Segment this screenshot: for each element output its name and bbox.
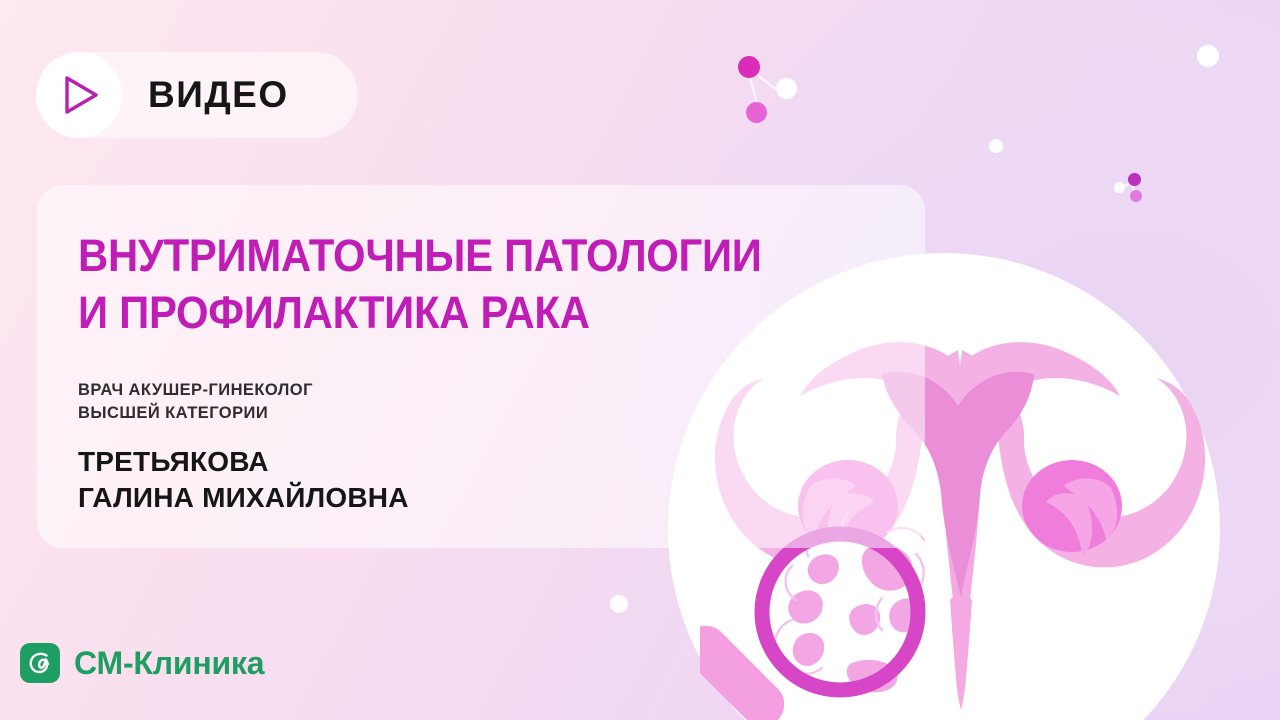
doctor-role-line-1: ВРАЧ АКУШЕР-ГИНЕКОЛОГ xyxy=(78,379,409,402)
doctor-given-name: ГАЛИНА МИХАЙЛОВНА xyxy=(78,480,409,516)
video-badge-label: ВИДЕО xyxy=(148,74,289,116)
content-card: ВНУТРИМАТОЧНЫЕ ПАТОЛОГИИ И ПРОФИЛАКТИКА … xyxy=(37,185,925,548)
doctor-role-line-2: ВЫСШЕЙ КАТЕГОРИИ xyxy=(78,402,409,425)
doctor-surname: ТРЕТЬЯКОВА xyxy=(78,444,409,480)
title-line-1: ВНУТРИМАТОЧНЫЕ ПАТОЛОГИИ xyxy=(78,227,762,284)
brand-logo[interactable]: СМ-Клиника xyxy=(20,643,264,683)
play-triangle-outline-icon xyxy=(54,70,104,120)
video-badge[interactable]: ВИДЕО xyxy=(36,52,358,138)
dot-top-right-icon xyxy=(1197,45,1219,67)
molecule-top-icon xyxy=(730,50,820,140)
title-line-2: И ПРОФИЛАКТИКА РАКА xyxy=(78,284,762,341)
brand-name: СМ-Клиника xyxy=(74,645,264,682)
page-title: ВНУТРИМАТОЧНЫЕ ПАТОЛОГИИ И ПРОФИЛАКТИКА … xyxy=(78,227,813,341)
molecule-right-icon xyxy=(1112,168,1172,228)
dot-upper-mid-icon xyxy=(989,139,1003,153)
pulse-wave-icon xyxy=(20,643,60,683)
video-title-slide: ВИДЕО ВНУТРИМАТОЧНЫЕ ПАТОЛОГИИ И ПРОФИЛА… xyxy=(0,0,1280,720)
doctor-info: ВРАЧ АКУШЕР-ГИНЕКОЛОГ ВЫСШЕЙ КАТЕГОРИИ Т… xyxy=(78,379,409,517)
dot-lower-left-icon xyxy=(610,595,628,613)
doctor-name: ТРЕТЬЯКОВА ГАЛИНА МИХАЙЛОВНА xyxy=(78,444,409,517)
play-button-circle[interactable] xyxy=(36,52,122,138)
